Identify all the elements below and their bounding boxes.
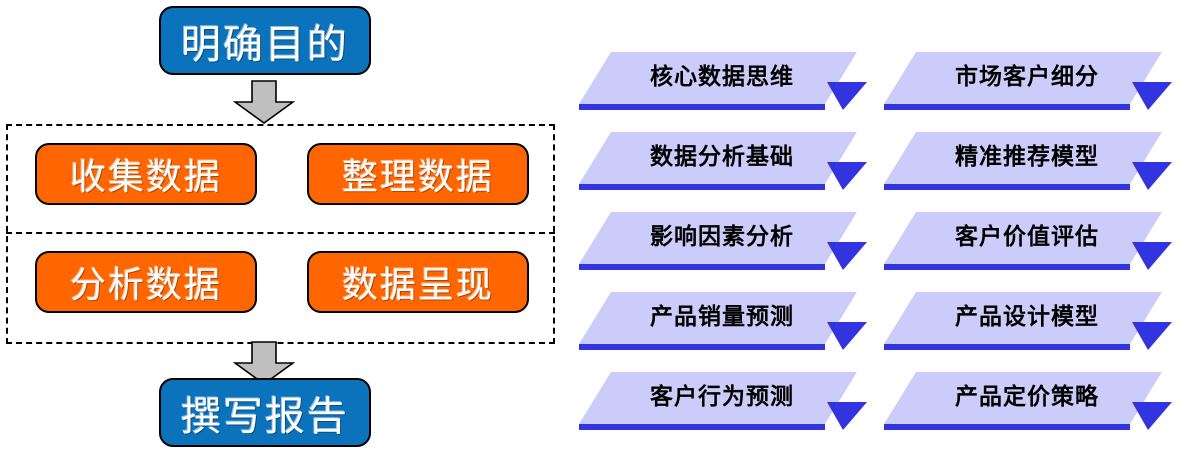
topic-tag[interactable]: 产品定价策略 [880, 368, 1180, 434]
topic-tag-label: 市场客户细分 [880, 48, 1148, 100]
topic-tag-label: 客户价值评估 [880, 208, 1148, 260]
topic-tag[interactable]: 客户价值评估 [880, 208, 1180, 274]
topic-tag-label: 数据分析基础 [575, 128, 843, 180]
topic-tag-label: 产品销量预测 [575, 288, 843, 340]
topic-tag[interactable]: 核心数据思维 [575, 48, 875, 114]
topic-tag-label: 产品定价策略 [880, 368, 1148, 420]
topic-tag[interactable]: 精准推荐模型 [880, 128, 1180, 194]
topic-tag[interactable]: 产品销量预测 [575, 288, 875, 354]
topic-tag-label: 影响因素分析 [575, 208, 843, 260]
topic-tag[interactable]: 影响因素分析 [575, 208, 875, 274]
topic-list-panel: 核心数据思维 数据分析基础 影响因素分析 产品销量预 [0, 0, 1191, 473]
topic-tag[interactable]: 市场客户细分 [880, 48, 1180, 114]
topic-tag-label: 产品设计模型 [880, 288, 1148, 340]
topic-tag-label: 客户行为预测 [575, 368, 843, 420]
topic-tag[interactable]: 客户行为预测 [575, 368, 875, 434]
diagram-canvas: 明确目的 收集数据 整理数据 分析数据 数据呈现 撰写报告 [0, 0, 1191, 473]
topic-tag-label: 核心数据思维 [575, 48, 843, 100]
topic-tag[interactable]: 产品设计模型 [880, 288, 1180, 354]
topic-tag[interactable]: 数据分析基础 [575, 128, 875, 194]
topic-tag-label: 精准推荐模型 [880, 128, 1148, 180]
